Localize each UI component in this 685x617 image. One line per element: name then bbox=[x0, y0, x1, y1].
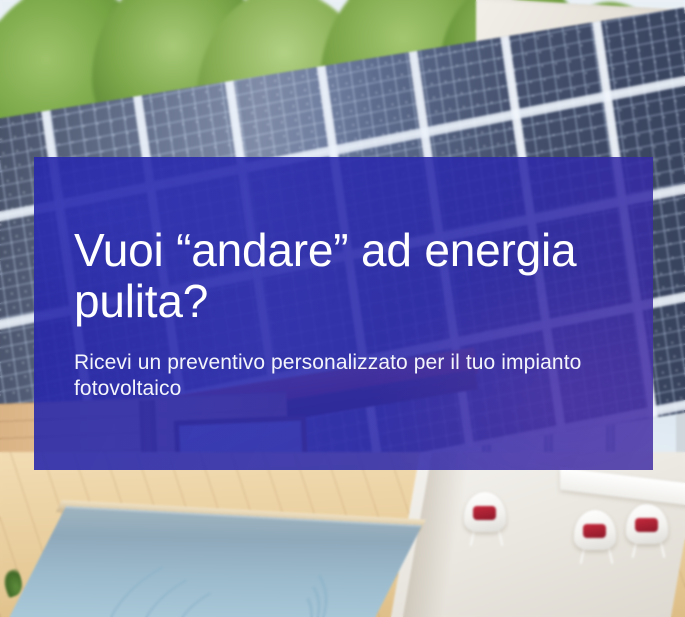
chair-cushion bbox=[473, 506, 496, 520]
hero-banner: Vuoi “andare” ad energia pulita? Ricevi … bbox=[0, 0, 685, 617]
chair-cushion bbox=[583, 524, 606, 538]
page-title: Vuoi “andare” ad energia pulita? bbox=[74, 225, 613, 328]
hero-subtitle: Ricevi un preventivo personalizzato per … bbox=[74, 350, 594, 403]
hero-overlay-card: Vuoi “andare” ad energia pulita? Ricevi … bbox=[34, 157, 653, 470]
chair-cushion bbox=[635, 518, 658, 532]
